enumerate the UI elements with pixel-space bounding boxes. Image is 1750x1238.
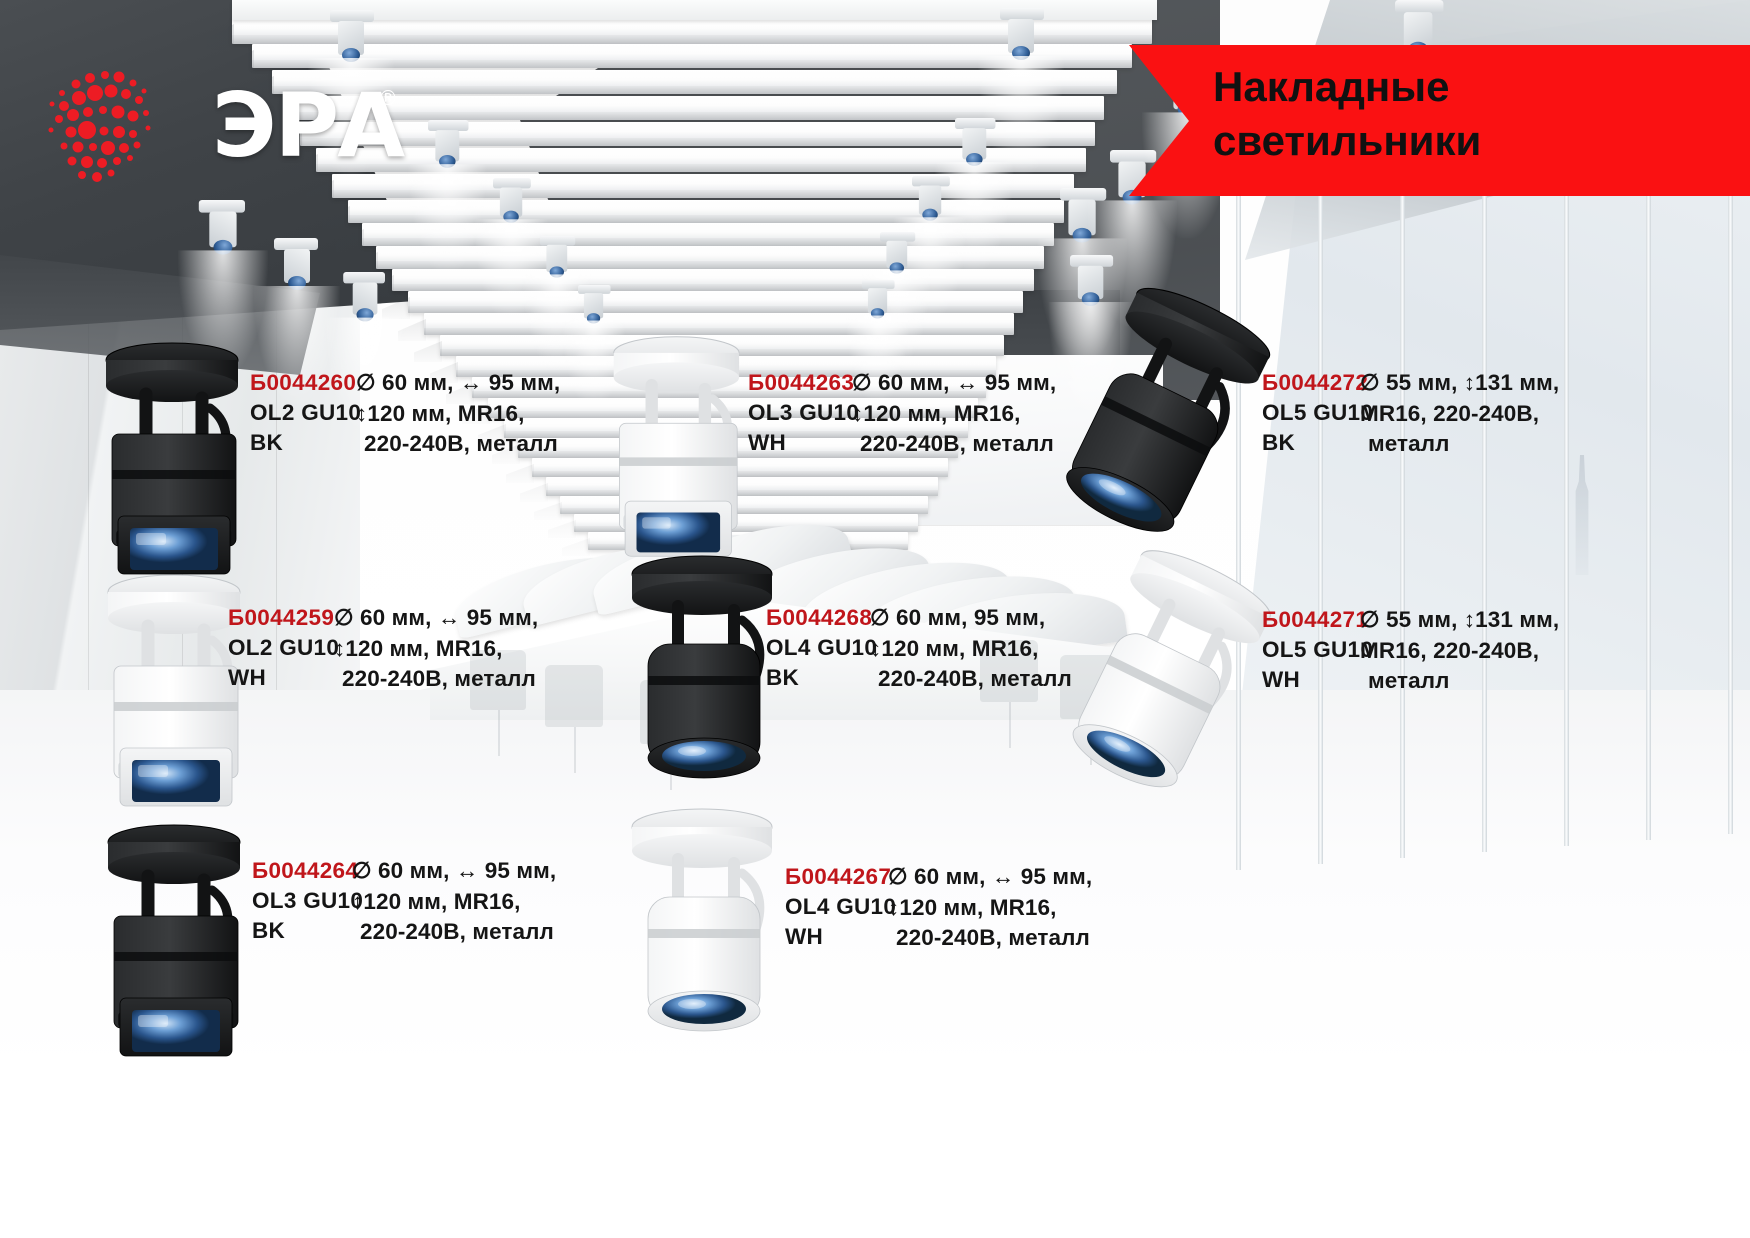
ceiling-slat [376,246,1044,269]
spec-line-1: ∅ 60 мм, ↔ 95 мм, [352,856,556,887]
product-code: Б0044264 [252,856,363,886]
spec-line-3: 220-240В, металл [334,664,538,695]
window-mullion [1400,178,1405,858]
ceiling-slat [408,291,1023,313]
product-code: Б0044271 [1262,605,1373,635]
category-banner-text: Накладные светильники [1213,60,1733,168]
spec-line-2: ↕120 мм, MR16, [334,634,538,665]
spec-line-2: ↕120 мм, MR16, [888,893,1092,924]
spec-line-3: 220-240В, металл [870,664,1072,695]
spec-line-1: ∅ 60 мм, ↔ 95 мм, [888,862,1092,893]
product-block-Б0044264: Б0044264 OL3 GU10 BK [252,856,363,946]
window-mullion [1646,190,1651,840]
product-block-Б0044272: Б0044272 OL5 GU10 BK [1262,368,1373,458]
ceiling-slat [332,174,1074,198]
window-mullion [1564,186,1569,846]
spec-line-1: ∅ 60 мм, ↔ 95 мм, [852,368,1056,399]
product-color-code: BK [250,428,361,458]
product-specs-Б0044263: ∅ 60 мм, ↔ 95 мм, ↕120 мм, MR16, 220-240… [852,368,1056,460]
spec-line-2: ↕120 мм, MR16, [852,399,1056,430]
spec-line-3: 220-240В, металл [888,923,1092,954]
spec-line-1: ∅ 60 мм, ↔ 95 мм, [334,603,538,634]
product-specs-Б0044271: ∅ 55 мм, ↕131 мм, MR16, 220-240В, металл [1360,605,1559,697]
product-color-code: WH [748,428,859,458]
ceiling-slat [348,200,1064,223]
banner-line-2: светильники [1213,114,1733,168]
product-model: OL3 GU10 [748,398,859,428]
spec-line-2: ↕120 мм, MR16, [352,887,556,918]
product-model: OL4 GU10 [785,892,896,922]
product-block-Б0044263: Б0044263 OL3 GU10 WH [748,368,859,458]
catalog-page: ЭРА ® Накладные светильники [0,0,1750,1238]
ceiling-slat [292,96,1104,120]
product-model: OL2 GU10 [228,633,339,663]
product-specs-Б0044272: ∅ 55 мм, ↕131 мм, MR16, 220-240В, металл [1360,368,1559,460]
spec-line-2: ↕120 мм, MR16, [356,399,560,430]
product-color-code: WH [1262,665,1373,695]
spec-line-1: ∅ 60 мм, ↔ 95 мм, [356,368,560,399]
spec-line-2: MR16, 220-240В, [1360,636,1559,667]
spec-line-1: ∅ 60 мм, 95 мм, [870,603,1072,634]
product-block-Б0044260: Б0044260 OL2 GU10 BK [250,368,361,458]
product-specs-Б0044267: ∅ 60 мм, ↔ 95 мм, ↕120 мм, MR16, 220-240… [888,862,1092,954]
ceiling-slat [252,44,1132,68]
product-code: Б0044268 [766,603,877,633]
product-specs-Б0044268: ∅ 60 мм, 95 мм, ↕120 мм, MR16, 220-240В,… [870,603,1072,695]
window-mullion [1728,194,1733,834]
product-code: Б0044260 [250,368,361,398]
product-model: OL2 GU10 [250,398,361,428]
product-block-Б0044267: Б0044267 OL4 GU10 WH [785,862,896,952]
ceiling-slat [362,223,1054,246]
product-block-Б0044268: Б0044268 OL4 GU10 BK [766,603,877,693]
product-model: OL3 GU10 [252,886,363,916]
product-model: OL5 GU10 [1262,398,1373,428]
spec-line-3: металл [1360,666,1559,697]
registered-mark: ® [378,86,398,110]
spec-line-3: металл [1360,429,1559,460]
spec-line-3: 220-240В, металл [356,429,560,460]
product-specs-Б0044259: ∅ 60 мм, ↔ 95 мм, ↕120 мм, MR16, 220-240… [334,603,538,695]
product-block-Б0044259: Б0044259 OL2 GU10 WH [228,603,339,693]
era-dots-logo-icon [40,58,205,193]
product-color-code: BK [1262,428,1373,458]
ceiling-slat [392,269,1034,291]
product-block-Б0044271: Б0044271 OL5 GU10 WH [1262,605,1373,695]
product-color-code: WH [785,922,896,952]
spec-line-1: ∅ 55 мм, ↕131 мм, [1360,605,1559,636]
brand-logo[interactable]: ЭРА ® [40,58,370,193]
product-color-code: BK [252,916,363,946]
product-model: OL5 GU10 [1262,635,1373,665]
product-color-code: BK [766,663,877,693]
product-model: OL4 GU10 [766,633,877,663]
spec-line-2: ↕120 мм, MR16, [870,634,1072,665]
product-code: Б0044272 [1262,368,1373,398]
brand-name: ЭРА [212,82,403,170]
product-color-code: WH [228,663,339,693]
spec-line-3: 220-240В, металл [852,429,1056,460]
spec-line-2: MR16, 220-240В, [1360,399,1559,430]
product-code: Б0044259 [228,603,339,633]
product-specs-Б0044260: ∅ 60 мм, ↔ 95 мм, ↕120 мм, MR16, 220-240… [356,368,560,460]
product-code: Б0044263 [748,368,859,398]
spec-line-3: 220-240В, металл [352,917,556,948]
window-mullion [1482,182,1487,852]
banner-line-1: Накладные [1213,60,1733,114]
product-specs-Б0044264: ∅ 60 мм, ↔ 95 мм, ↕120 мм, MR16, 220-240… [352,856,556,948]
spec-line-1: ∅ 55 мм, ↕131 мм, [1360,368,1559,399]
product-code: Б0044267 [785,862,896,892]
